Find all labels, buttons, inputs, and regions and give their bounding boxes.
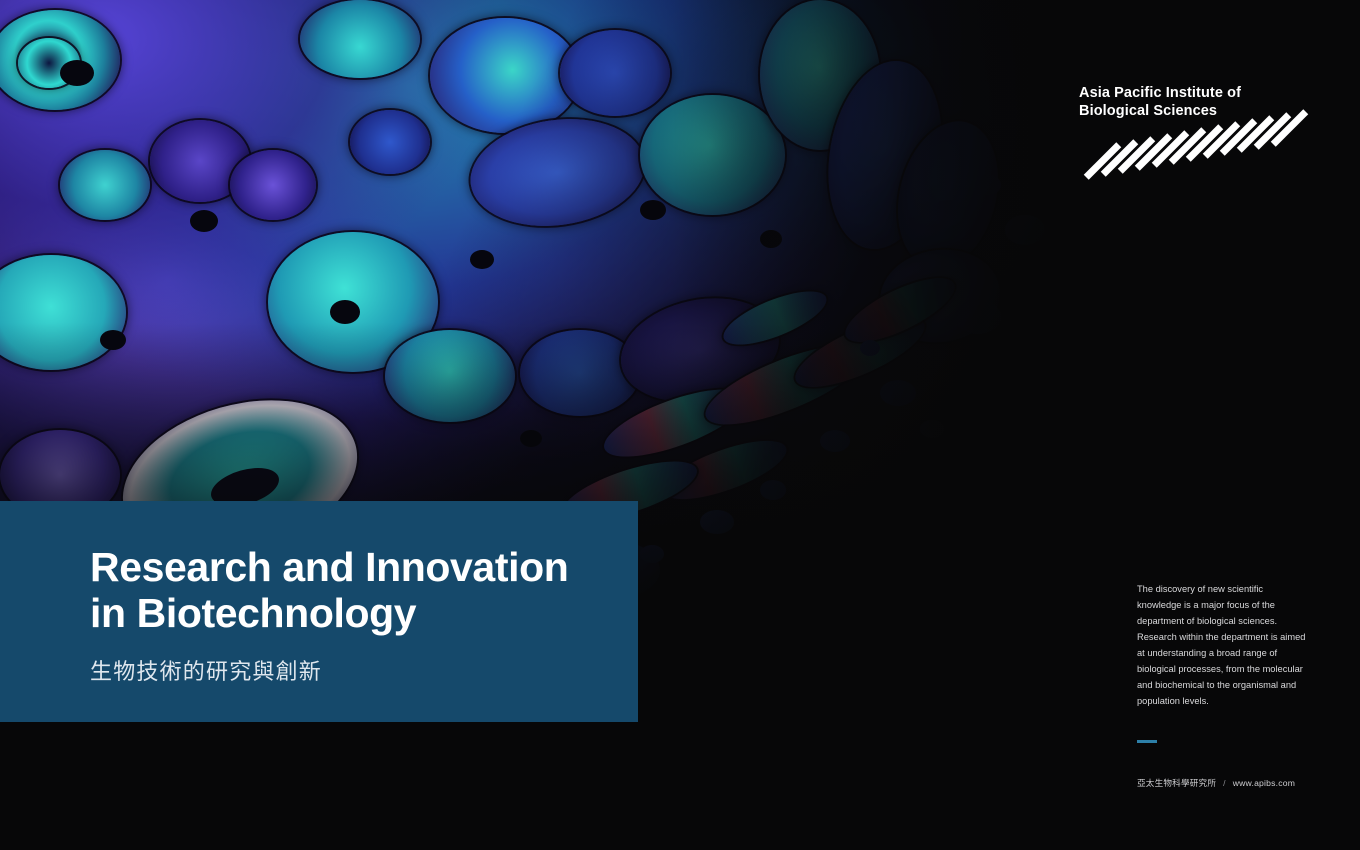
footer-separator: / xyxy=(1223,778,1226,788)
diagonal-bars-logo-icon xyxy=(1099,112,1309,170)
title-panel: Research and Innovation in Biotechnology… xyxy=(0,501,638,722)
body-paragraph-1: The discovery of new scientific knowledg… xyxy=(1137,582,1307,630)
poster-canvas: Asia Pacific Institute of Biological Sci… xyxy=(0,0,1360,850)
body-copy: The discovery of new scientific knowledg… xyxy=(1137,582,1307,710)
body-paragraph-2: Research within the department is aimed … xyxy=(1137,630,1307,710)
logo-wordmark-line1: Asia Pacific Institute of xyxy=(1079,84,1309,102)
footer-website[interactable]: www.apibs.com xyxy=(1233,778,1295,788)
page-title-line2: in Biotechnology xyxy=(90,591,638,637)
logo[interactable]: Asia Pacific Institute of Biological Sci… xyxy=(1079,84,1309,121)
footer-organization: 亞太生物科學研究所 xyxy=(1137,777,1216,789)
page-title-line1: Research and Innovation xyxy=(90,545,638,591)
accent-rule xyxy=(1137,740,1157,743)
footer: 亞太生物科學研究所 / www.apibs.com xyxy=(1137,777,1295,789)
page-subtitle: 生物技術的研究與創新 xyxy=(90,654,638,686)
